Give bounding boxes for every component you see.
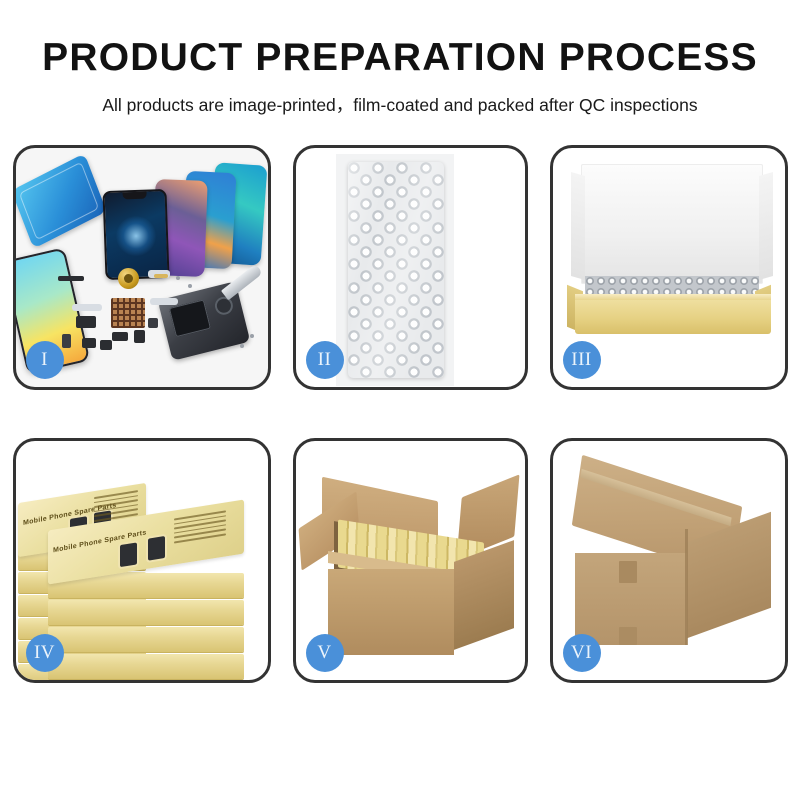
step-badge-5: V (306, 634, 344, 672)
part-gold-contact (154, 274, 168, 278)
carton-front-panel (328, 569, 454, 655)
box-slab (48, 654, 244, 679)
part-module (76, 316, 96, 328)
part-module (148, 318, 158, 328)
part-flex-cable (150, 298, 178, 305)
phone-wallpaper-glow (115, 216, 156, 257)
part-strip (58, 276, 84, 281)
part-module (62, 334, 71, 348)
chip-grid-icon (111, 298, 145, 328)
screen-thumbnail (120, 542, 137, 567)
screw-icon (176, 276, 180, 280)
part-module (134, 330, 145, 343)
process-step-grid: I II III (8, 145, 792, 683)
step-badge-6: VI (563, 634, 601, 672)
step-badge-2: II (306, 341, 344, 379)
header: PRODUCT PREPARATION PROCESS All products… (0, 0, 800, 117)
process-step-panel-3: III (550, 145, 788, 390)
carton-tab (619, 561, 637, 583)
process-step-panel-1: I (13, 145, 271, 390)
step-badge-3: III (563, 341, 601, 379)
product-preparation-infographic: PRODUCT PREPARATION PROCESS All products… (0, 0, 800, 800)
process-step-panel-2: II (293, 145, 528, 390)
tweezers-icon (220, 264, 262, 301)
screw-icon (188, 284, 192, 288)
page-subtitle: All products are image-printed，film-coat… (0, 92, 800, 117)
step-badge-1: I (26, 341, 64, 379)
process-step-panel-4: Mobile Phone Spare Parts (13, 438, 271, 683)
bubble-wrap-sheen (348, 162, 444, 378)
process-step-panel-6: VI (550, 438, 788, 683)
box-stack-front: Mobile Phone Spare Parts (48, 515, 244, 680)
part-module (100, 340, 112, 350)
speaker-coil-icon (118, 268, 139, 289)
box-slab (48, 627, 244, 652)
phone-back-panel-icon (16, 153, 107, 248)
box-slab (48, 600, 244, 625)
part-module (82, 338, 96, 348)
part-module (112, 332, 128, 341)
box-front-panel (575, 300, 771, 334)
phone-front-glass-icon (102, 189, 169, 280)
phone-notch (122, 192, 146, 200)
screw-icon (250, 334, 254, 338)
box-lid-icon (581, 164, 763, 284)
screw-icon (240, 344, 244, 348)
part-flex-cable (72, 304, 102, 311)
screen-thumbnail (148, 536, 165, 561)
carton-tab (619, 627, 637, 645)
page-title: PRODUCT PREPARATION PROCESS (0, 38, 800, 79)
box-spec-lines (174, 510, 226, 546)
step-badge-4: IV (26, 634, 64, 672)
carton-corner-seam (685, 529, 688, 645)
process-step-panel-5: V (293, 438, 528, 683)
